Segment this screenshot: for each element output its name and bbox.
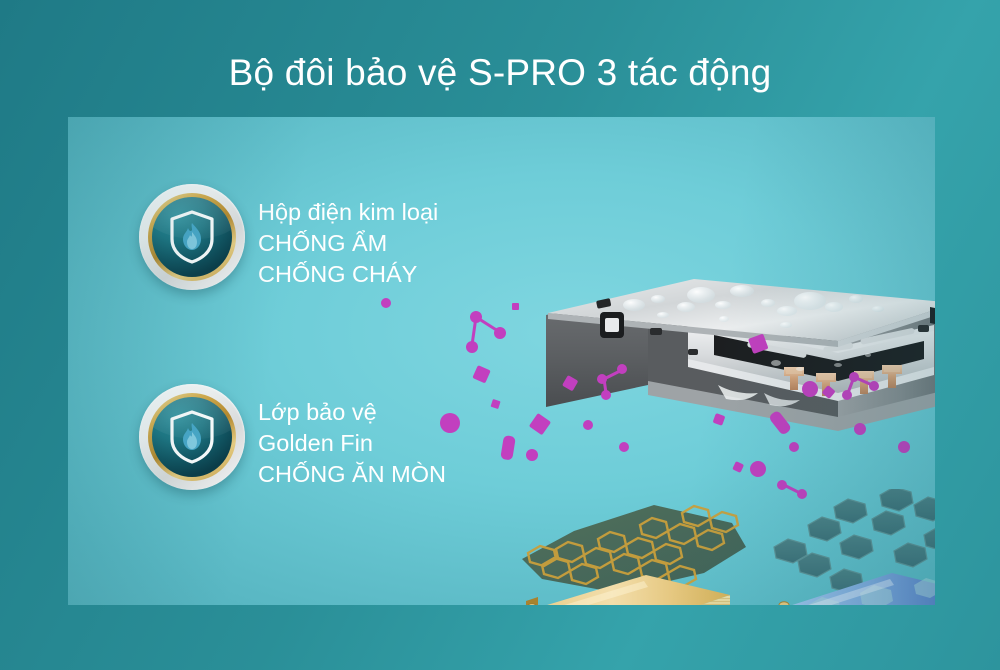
standard-blue-fin-heat-exchanger: [768, 489, 935, 605]
shield-flame-icon: [169, 210, 215, 264]
feature-2-line-1: Lớp bảo vệ: [258, 397, 446, 428]
metal-electrical-box: [538, 255, 935, 455]
infographic-stage: Bộ đôi bảo vệ S-PRO 3 tác động: [0, 0, 1000, 670]
page-title: Bộ đôi bảo vệ S-PRO 3 tác động: [0, 52, 1000, 94]
feature-1-line-1: Hộp điện kim loại: [258, 197, 438, 228]
feature-2-line-2: Golden Fin: [258, 428, 446, 459]
golden-fin-heat-exchanger: [508, 487, 768, 605]
honeycomb-coating-broken: [774, 489, 935, 593]
feature-text-2: Lớp bảo vệ Golden Fin CHỐNG ĂN MÒN: [258, 397, 446, 490]
feature-1-line-2: CHỐNG ẨM: [258, 228, 438, 259]
feature-text-1: Hộp điện kim loại CHỐNG ẨM CHỐNG CHÁY: [258, 197, 438, 290]
illustration-panel: Hộp điện kim loại CHỐNG ẨM CHỐNG CHÁY Lớ…: [68, 117, 935, 605]
feature-1-line-3: CHỐNG CHÁY: [258, 259, 438, 290]
feature-2-line-3: CHỐNG ĂN MÒN: [258, 459, 446, 490]
badge-moisture-fire[interactable]: [139, 184, 245, 290]
shield-flame-icon: [169, 410, 215, 464]
badge-anti-corrosion[interactable]: [139, 384, 245, 490]
